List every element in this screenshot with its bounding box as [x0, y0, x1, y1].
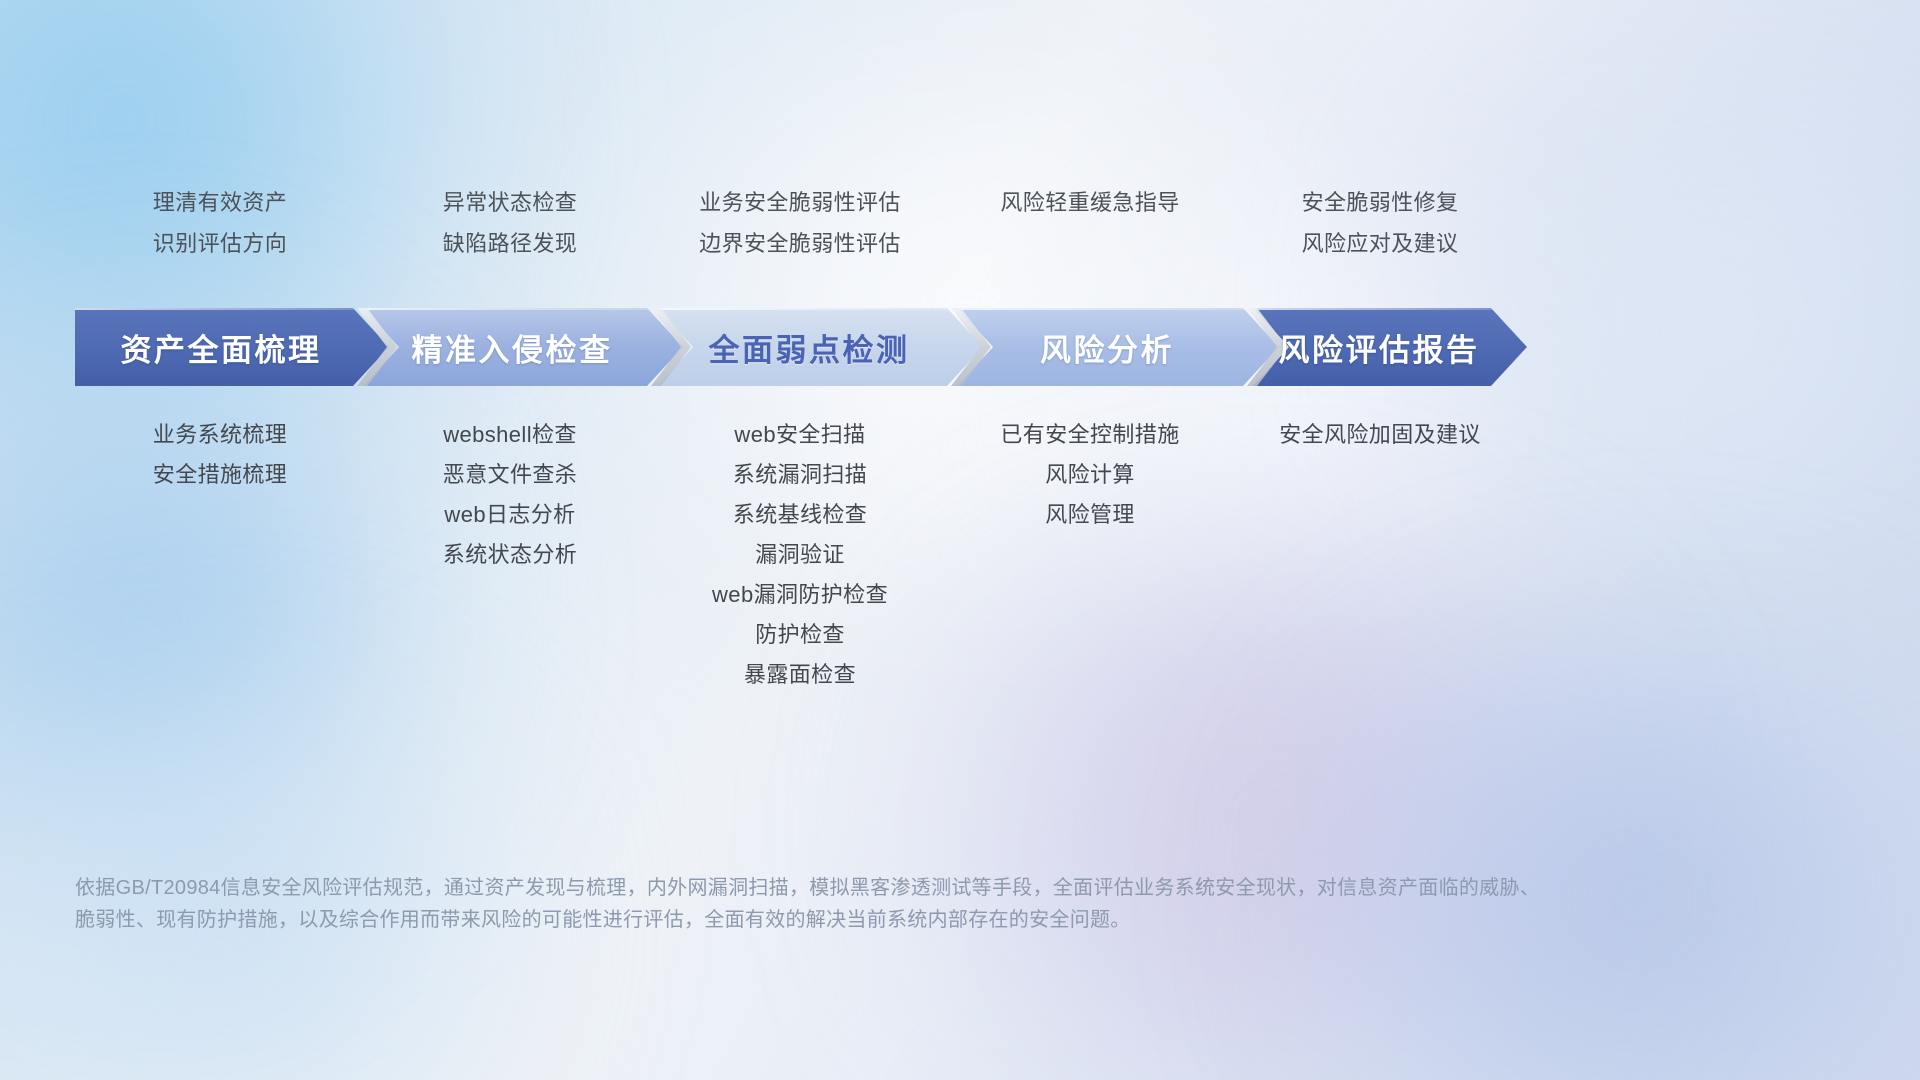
list-item: 防护检查 [655, 615, 945, 655]
top-notes-row: 理清有效资产 识别评估方向 异常状态检查 缺陷路径发现 业务安全脆弱性评估 边界… [75, 182, 1525, 264]
slide-canvas: 理清有效资产 识别评估方向 异常状态检查 缺陷路径发现 业务安全脆弱性评估 边界… [0, 0, 1920, 1080]
top-note: 风险应对及建议 [1235, 223, 1525, 264]
process-step-2[interactable]: 精准入侵检查 [363, 308, 683, 386]
process-step-1[interactable]: 资产全面梳理 [75, 308, 389, 386]
top-note: 安全脆弱性修复 [1235, 182, 1525, 223]
top-note: 异常状态检查 [365, 182, 655, 223]
list-item: web日志分析 [365, 495, 655, 535]
top-note: 风险轻重缓急指导 [945, 182, 1235, 223]
list-item: 安全风险加固及建议 [1235, 415, 1525, 455]
list-item: web安全扫描 [655, 415, 945, 455]
list-item: 系统基线检查 [655, 495, 945, 535]
list-item: 漏洞验证 [655, 535, 945, 575]
list-item: 风险计算 [945, 455, 1235, 495]
list-item: 恶意文件查杀 [365, 455, 655, 495]
top-notes-step-5: 安全脆弱性修复 风险应对及建议 [1235, 182, 1525, 264]
bottom-list-step-4: 已有安全控制措施 风险计算 风险管理 [945, 415, 1235, 535]
process-step-4-label: 风险分析 [1040, 325, 1174, 370]
list-item: 已有安全控制措施 [945, 415, 1235, 455]
process-chevron-band: 资产全面梳理 精准入侵检查 全面弱点检测 风险分析 风险评估报告 [75, 308, 1527, 386]
bottom-list-step-2: webshell检查 恶意文件查杀 web日志分析 系统状态分析 [365, 415, 655, 575]
top-notes-step-2: 异常状态检查 缺陷路径发现 [365, 182, 655, 264]
list-item: 暴露面检查 [655, 655, 945, 695]
bottom-lists-row: 业务系统梳理 安全措施梳理 webshell检查 恶意文件查杀 web日志分析 … [75, 415, 1525, 695]
bottom-list-step-1: 业务系统梳理 安全措施梳理 [75, 415, 365, 495]
process-step-3[interactable]: 全面弱点检测 [657, 308, 983, 386]
top-notes-step-3: 业务安全脆弱性评估 边界安全脆弱性评估 [655, 182, 945, 264]
process-step-3-label: 全面弱点检测 [709, 325, 910, 370]
top-note: 理清有效资产 [75, 182, 365, 223]
process-step-4[interactable]: 风险分析 [957, 308, 1279, 386]
process-step-5[interactable]: 风险评估报告 [1253, 308, 1527, 386]
top-note: 缺陷路径发现 [365, 223, 655, 264]
top-note: 识别评估方向 [75, 223, 365, 264]
process-step-1-label: 资产全面梳理 [121, 325, 322, 370]
footer-description: 依据GB/T20984信息安全风险评估规范，通过资产发现与梳理，内外网漏洞扫描，… [75, 872, 1555, 936]
background-glow-bottom-right [1260, 640, 1920, 1080]
bottom-list-step-3: web安全扫描 系统漏洞扫描 系统基线检查 漏洞验证 web漏洞防护检查 防护检… [655, 415, 945, 695]
top-note: 边界安全脆弱性评估 [655, 223, 945, 264]
bottom-list-step-5: 安全风险加固及建议 [1235, 415, 1525, 455]
list-item: web漏洞防护检查 [655, 575, 945, 615]
list-item: 系统状态分析 [365, 535, 655, 575]
list-item: webshell检查 [365, 415, 655, 455]
top-notes-step-1: 理清有效资产 识别评估方向 [75, 182, 365, 264]
list-item: 业务系统梳理 [75, 415, 365, 455]
list-item: 风险管理 [945, 495, 1235, 535]
process-step-2-label: 精准入侵检查 [412, 325, 613, 370]
list-item: 系统漏洞扫描 [655, 455, 945, 495]
list-item: 安全措施梳理 [75, 455, 365, 495]
top-note: 业务安全脆弱性评估 [655, 182, 945, 223]
top-notes-step-4: 风险轻重缓急指导 [945, 182, 1235, 264]
process-step-5-label: 风险评估报告 [1279, 325, 1480, 370]
